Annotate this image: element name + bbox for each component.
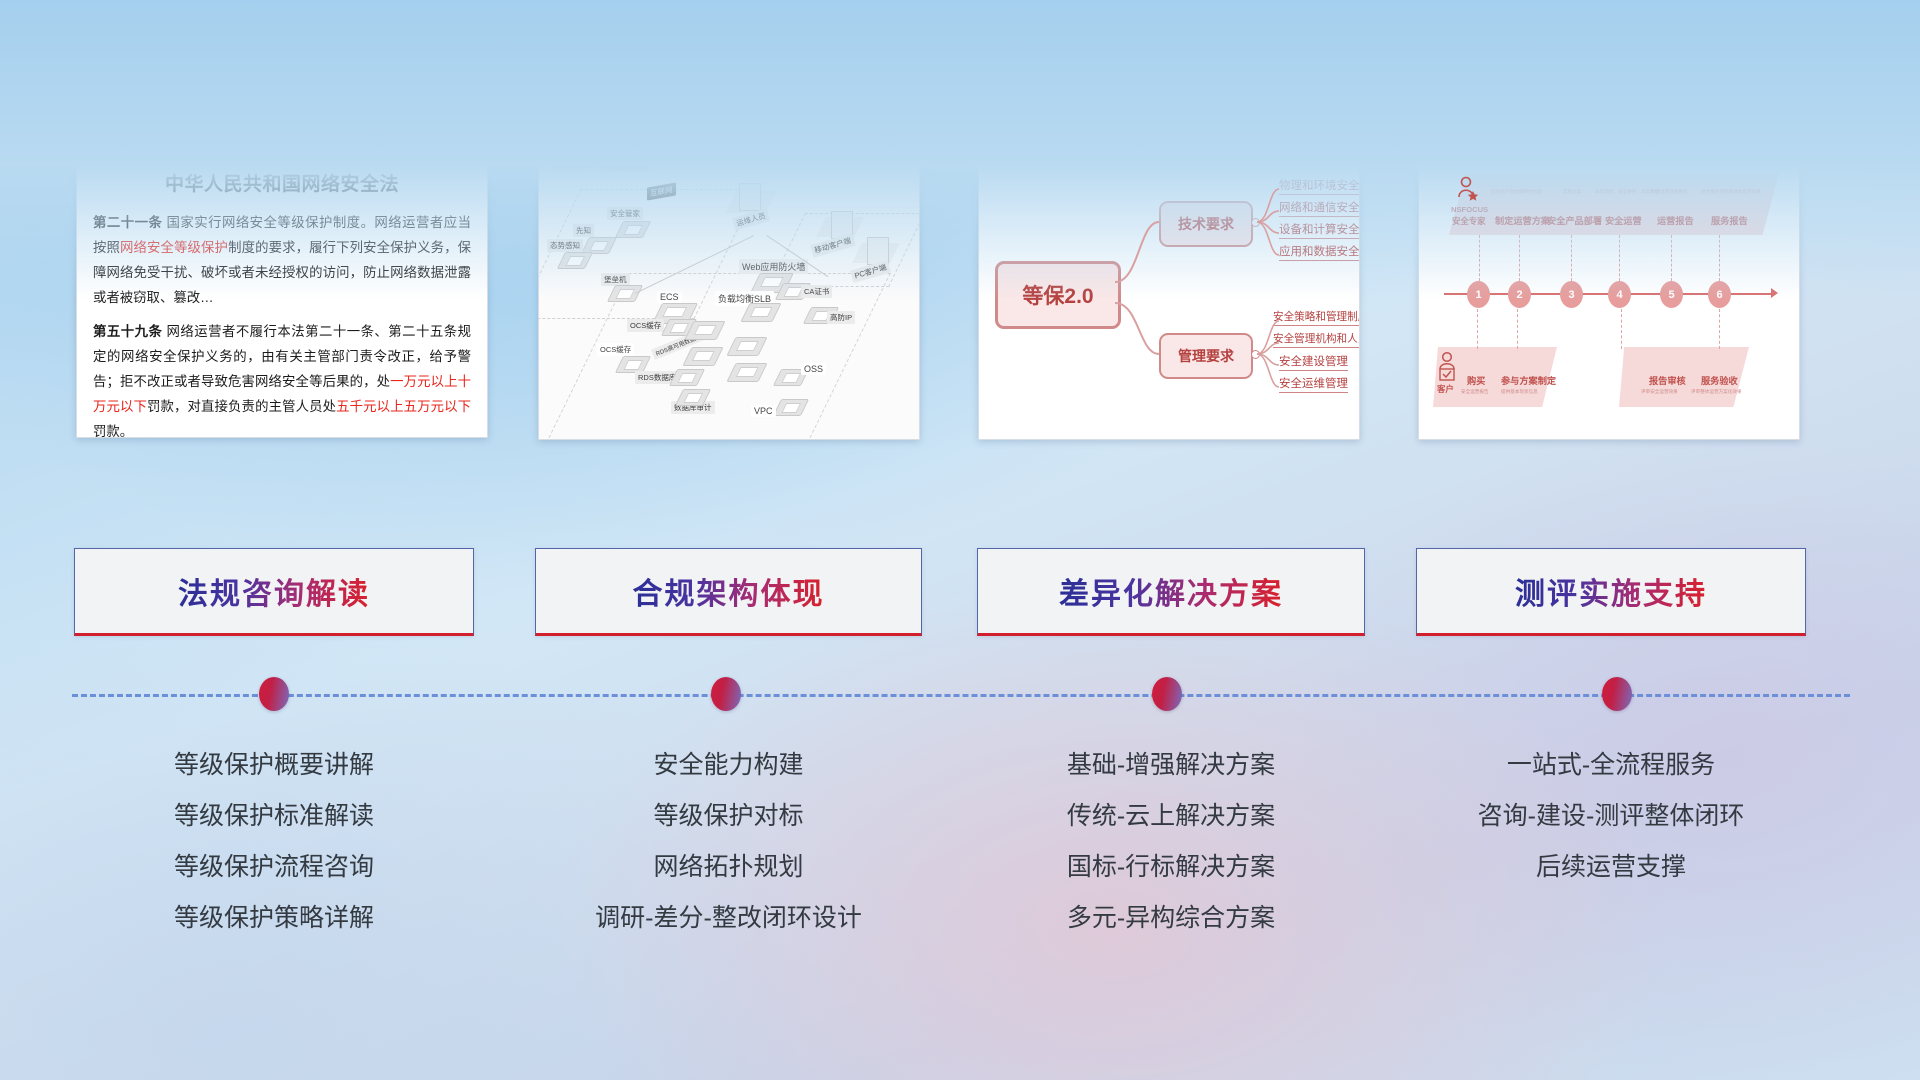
timeline-dashed-line (72, 694, 1850, 697)
arch-label-oss: OSS (801, 363, 826, 375)
list-item: 等级保护策略详解 (74, 893, 474, 944)
arch-label-anqishi: OCS缓存 (627, 319, 664, 332)
section-button-label: 法规咨询解读 (178, 569, 370, 613)
list-item: 咨询-建设-测评整体闭环 (1416, 791, 1806, 842)
list-item: 国标-行标解决方案 (977, 842, 1365, 893)
timeline-bottom-actor: 客户 (1437, 383, 1454, 395)
list-item: 后续运营支撑 (1416, 842, 1806, 893)
timeline-bottom-title: 参与方案制定 (1501, 373, 1556, 387)
customer-person-icon (1437, 351, 1459, 383)
mindmap-collapse-dot-management[interactable] (1251, 350, 1260, 359)
list-item: 等级保护概要讲解 (74, 740, 474, 791)
timeline-connector (1517, 309, 1518, 349)
list-item: 调研-差分-整改闭环设计 (535, 893, 922, 944)
section-button-differentiated-solution[interactable]: 差异化解决方案 (977, 548, 1365, 636)
list-item: 等级保护流程咨询 (74, 842, 474, 893)
list-item: 多元-异构综合方案 (977, 893, 1365, 944)
arch-label-ocs-cache: OCS缓存 (597, 343, 634, 356)
section-button-evaluation-support[interactable]: 测评实施支持 (1416, 548, 1806, 636)
list-item: 安全能力构建 (535, 740, 922, 791)
timeline-connector (1477, 309, 1478, 349)
timeline-bottom-sub: 评审整体运营方案化效果 (1691, 389, 1742, 395)
timeline-bottom-sub: 评审安全运营效果 (1641, 389, 1678, 395)
timeline-bottom-sub: 提供基本现状信息 (1501, 389, 1538, 395)
timeline-bullet-2[interactable] (711, 677, 741, 711)
mindmap-leaf: 安全策略和管理制度 (1273, 309, 1360, 326)
timeline-bullet-3[interactable] (1152, 677, 1182, 711)
section-button-compliance-architecture[interactable]: 合规架构体现 (535, 548, 922, 636)
arch-label-anti-ddos-ip: 高防IP (827, 311, 855, 324)
list-column-evaluation-support: 一站式-全流程服务 咨询-建设-测评整体闭环 后续运营支撑 (1416, 740, 1806, 893)
law-run: 罚款，对直接负责的主管人员处 (147, 399, 336, 414)
timeline-connector (1621, 309, 1622, 349)
expert-person-icon (1455, 175, 1479, 209)
list-item: 基础-增强解决方案 (977, 740, 1365, 791)
law-paragraph-59: 第五十九条 网络运营者不履行本法第二十一条、第二十五条规定的网络安全保护义务的，… (93, 319, 471, 438)
list-item: 等级保护标准解读 (74, 791, 474, 842)
timeline-bullet-4[interactable] (1602, 677, 1632, 711)
section-button-label: 测评实施支持 (1515, 569, 1707, 613)
law-article-number-59: 第五十九条 (93, 324, 162, 339)
list-column-differentiated-solution: 基础-增强解决方案 传统-云上解决方案 国标-行标解决方案 多元-异构综合方案 (977, 740, 1365, 944)
timeline-connector (1719, 309, 1720, 349)
mindmap-leaf: 安全管理机构和人员 (1273, 331, 1360, 348)
list-item: 等级保护对标 (535, 791, 922, 842)
mindmap-branch-management: 管理要求 (1159, 333, 1253, 379)
timeline-bottom-title: 购买 (1467, 373, 1485, 387)
section-button-label: 差异化解决方案 (1059, 569, 1283, 613)
timeline-bottom-title: 报告审核 (1649, 373, 1686, 387)
section-button-regulation-consulting[interactable]: 法规咨询解读 (74, 548, 474, 636)
arch-label-vpc: VPC (751, 405, 776, 417)
law-run-highlight: 五千元以上五万元以下 (336, 399, 471, 414)
section-button-label: 合规架构体现 (633, 569, 825, 613)
timeline-bottom-title: 服务验收 (1701, 373, 1738, 387)
mindmap-leaf: 安全建设管理 (1279, 353, 1348, 371)
list-item: 一站式-全流程服务 (1416, 740, 1806, 791)
list-item: 网络拓扑规划 (535, 842, 922, 893)
timeline-bullet-1[interactable] (259, 677, 289, 711)
background-top-haze (0, 0, 1920, 300)
list-item: 传统-云上解决方案 (977, 791, 1365, 842)
list-column-compliance-architecture: 安全能力构建 等级保护对标 网络拓扑规划 调研-差分-整改闭环设计 (535, 740, 922, 944)
law-run: 罚款。 (93, 424, 133, 438)
list-column-regulation-consulting: 等级保护概要讲解 等级保护标准解读 等级保护流程咨询 等级保护策略详解 (74, 740, 474, 944)
mindmap-leaf: 安全运维管理 (1279, 375, 1348, 393)
timeline-bottom-sub: 安全运营报告 (1461, 389, 1489, 395)
